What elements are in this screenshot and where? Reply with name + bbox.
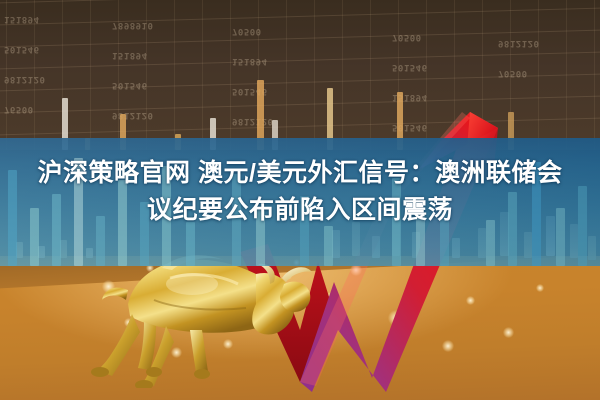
headline-line-1: 沪深策略官网 澳元/美元外汇信号：澳洲联储会 [0,155,600,192]
headline-line-2: 议纪要公布前陷入区间震荡 [0,192,600,229]
chart-bar [324,226,333,266]
banner-image: 1518945015469812120765007898910151894501… [0,0,600,400]
headline: 沪深策略官网 澳元/美元外汇信号：澳洲联储会 议纪要公布前陷入区间震荡 [0,155,600,229]
